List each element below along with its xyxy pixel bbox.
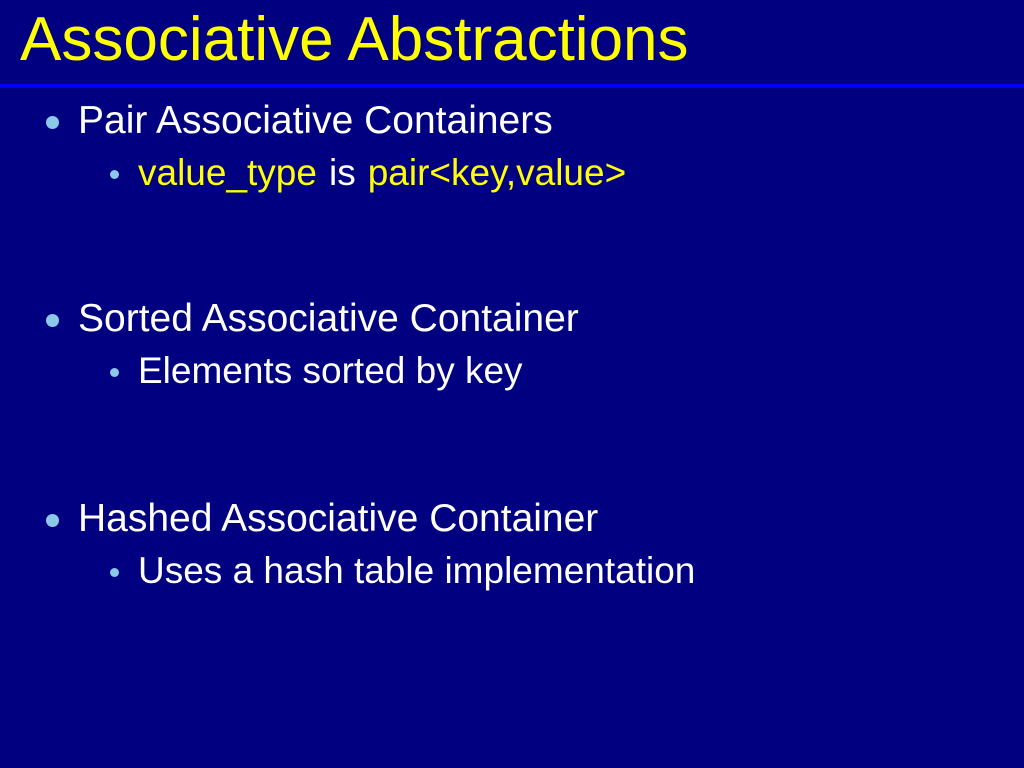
bullet-level2-label: Elements sorted by key bbox=[138, 346, 523, 396]
sub-bullet-marker-icon bbox=[110, 568, 119, 577]
bullet-group-3: Hashed Associative Container Uses a hash… bbox=[0, 494, 1024, 598]
bullet-level2-label: value_typeispair<key,value> bbox=[138, 148, 626, 198]
bullet-level2: Uses a hash table implementation bbox=[0, 546, 1024, 598]
page-title: Associative Abstractions bbox=[20, 2, 689, 78]
slide: Associative Abstractions Pair Associativ… bbox=[0, 0, 1024, 768]
sub-bullet-segment-1: Elements sorted by key bbox=[138, 350, 523, 391]
bullet-level1: Sorted Associative Container bbox=[0, 294, 1024, 346]
bullet-level2: value_typeispair<key,value> bbox=[0, 148, 1024, 200]
bullet-level2: Elements sorted by key bbox=[0, 346, 1024, 398]
bullet-group-1: Pair Associative Containers value_typeis… bbox=[0, 96, 1024, 200]
sub-bullet-segment-1: value_type bbox=[138, 152, 317, 193]
bullet-level1-label: Sorted Associative Container bbox=[78, 294, 579, 344]
sub-bullet-segment-2: is bbox=[329, 152, 356, 193]
bullet-marker-icon bbox=[46, 116, 59, 129]
sub-bullet-marker-icon bbox=[110, 368, 119, 377]
bullet-level1: Pair Associative Containers bbox=[0, 96, 1024, 148]
bullet-group-2: Sorted Associative Container Elements so… bbox=[0, 294, 1024, 398]
bullet-marker-icon bbox=[46, 514, 59, 527]
bullet-level1-label: Pair Associative Containers bbox=[78, 96, 553, 146]
sub-bullet-segment-3: pair<key,value> bbox=[368, 152, 626, 193]
title-band: Associative Abstractions bbox=[0, 0, 1024, 84]
bullet-level2-label: Uses a hash table implementation bbox=[138, 546, 695, 596]
bullet-level1-label: Hashed Associative Container bbox=[78, 494, 598, 544]
sub-bullet-marker-icon bbox=[110, 170, 119, 179]
slide-body: Pair Associative Containers value_typeis… bbox=[0, 88, 1024, 768]
bullet-level1: Hashed Associative Container bbox=[0, 494, 1024, 546]
sub-bullet-segment-1: Uses a hash table implementation bbox=[138, 550, 695, 591]
bullet-marker-icon bbox=[46, 314, 59, 327]
